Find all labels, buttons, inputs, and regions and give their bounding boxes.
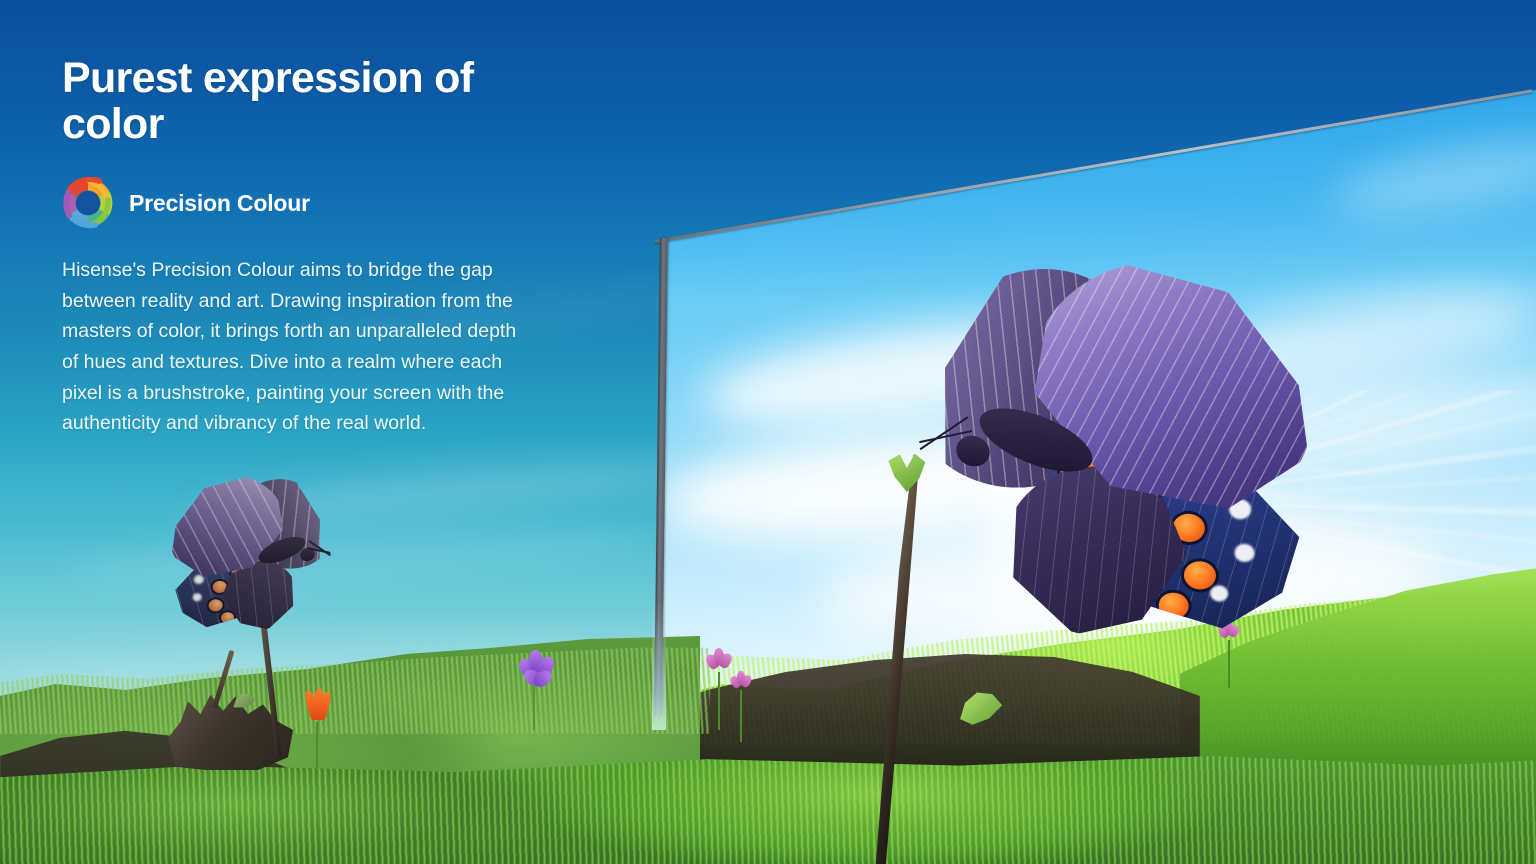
butterfly-vivid	[880, 270, 1310, 600]
poppy-stem	[316, 722, 318, 768]
promo-banner: Purest expression of color	[0, 0, 1536, 864]
butterfly-muted	[172, 480, 347, 615]
pink-flower-stem	[1228, 640, 1230, 688]
page-title: Purest expression of color	[62, 56, 532, 147]
purple-bellflower	[518, 650, 556, 690]
orange-poppy	[305, 690, 331, 726]
copy-block: Purest expression of color	[62, 56, 532, 458]
feature-name: Precision Colour	[129, 190, 310, 217]
pink-flower-stem	[718, 672, 720, 730]
bellflower-stem	[533, 684, 535, 730]
feature-description: Hisense's Precision Colour aims to bridg…	[62, 255, 522, 439]
precision-colour-iris-logo-icon	[62, 177, 114, 229]
pink-flower	[730, 671, 751, 696]
feature-badge: Precision Colour	[62, 177, 532, 229]
moss-muted-blades	[0, 614, 710, 734]
pink-flower	[706, 648, 732, 678]
tv-bezel-left-fade	[652, 600, 666, 730]
pink-flower-stem	[740, 690, 742, 742]
